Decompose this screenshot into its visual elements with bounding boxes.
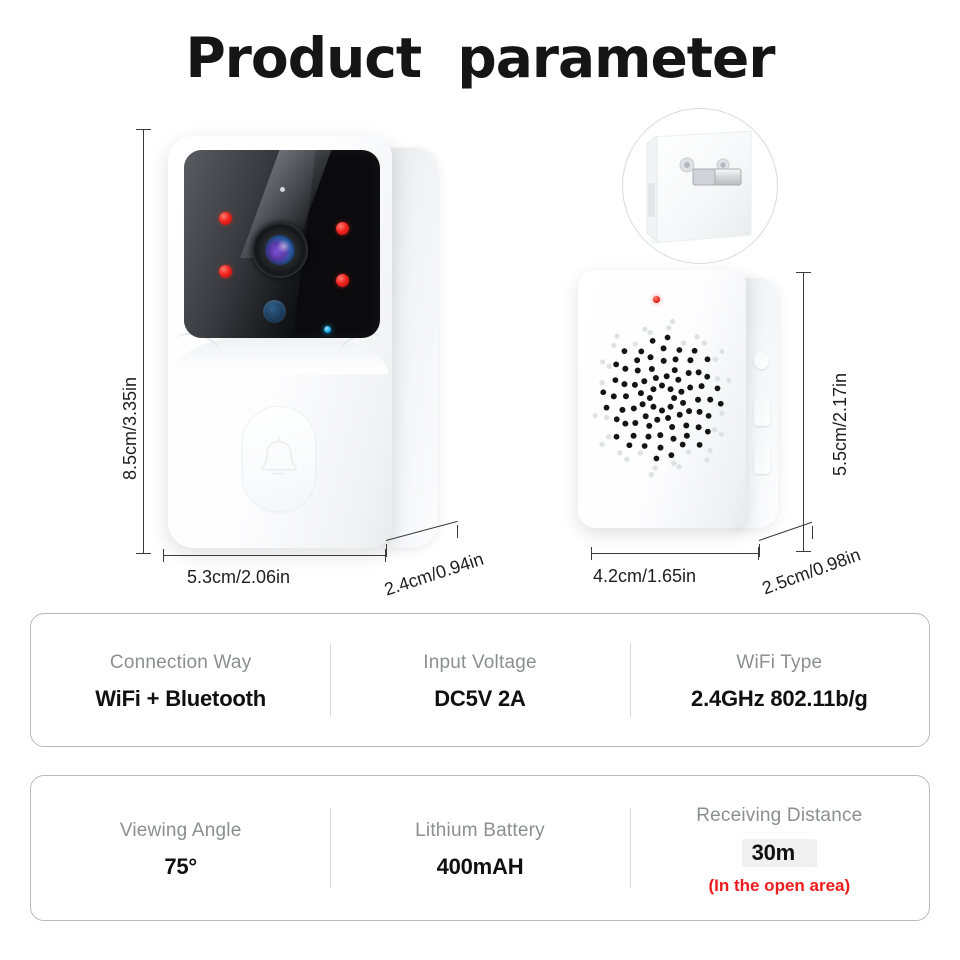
spec-label: Viewing Angle: [120, 820, 242, 842]
chime-status-led-icon: [653, 296, 660, 303]
ir-led-icon: [336, 274, 349, 287]
spec-table-row-2: Viewing Angle 75° Lithium Battery 400mAH…: [30, 775, 930, 921]
dim-cap: [796, 551, 811, 552]
spec-cell-connection-way: Connection Way WiFi + Bluetooth: [31, 614, 330, 746]
spec-table-row-1: Connection Way WiFi + Bluetooth Input Vo…: [30, 613, 930, 747]
doorbell-button[interactable]: [242, 406, 316, 512]
pir-sensor-icon: [263, 300, 286, 323]
wall-plug-icon: [623, 109, 778, 264]
spec-label: Lithium Battery: [415, 820, 545, 842]
status-led-icon: [324, 326, 331, 333]
doorbell-width-label: 5.3cm/2.06in: [187, 567, 290, 588]
product-illustration-area: 8.5cm/3.35in 5.3cm/2.06in 2.4cm/0.94in: [0, 100, 960, 600]
spec-label: Connection Way: [110, 652, 252, 674]
dim-cap: [457, 525, 458, 538]
spec-cell-viewing-angle: Viewing Angle 75°: [31, 776, 330, 920]
chime-power-button[interactable]: [754, 352, 769, 369]
spec-cell-lithium-battery: Lithium Battery 400mAH: [330, 776, 629, 920]
page-title: Product parameter: [0, 26, 960, 90]
chime-volume-button[interactable]: [754, 398, 770, 426]
doorbell-body: [168, 136, 392, 548]
doorbell-height-dim-line: [143, 129, 144, 554]
dim-cap: [759, 544, 760, 557]
chime-width-dim-line: [591, 553, 758, 554]
spec-value: DC5V 2A: [434, 686, 526, 712]
ir-led-icon: [336, 222, 349, 235]
spec-cell-wifi-type: WiFi Type 2.4GHz 802.11b/g: [630, 614, 929, 746]
bell-icon: [256, 435, 302, 483]
speaker-grille-icon: [592, 318, 732, 478]
doorbell-height-label: 8.5cm/3.35in: [120, 377, 141, 480]
doorbell-front-panel: [184, 150, 380, 338]
doorbell-width-dim-line: [163, 555, 385, 556]
dim-cap: [163, 549, 164, 562]
ir-led-icon: [219, 212, 232, 225]
chime-height-dim-line: [803, 272, 804, 552]
spec-note: (In the open area): [708, 876, 850, 896]
plug-detail-callout: [622, 108, 778, 264]
chime-depth-label: 2.5cm/0.98in: [759, 544, 863, 599]
spec-label: WiFi Type: [736, 652, 822, 674]
chime-body: [578, 270, 746, 528]
spec-value: 2.4GHz 802.11b/g: [691, 686, 868, 712]
doorbell-device: [168, 130, 436, 558]
product-parameter-page: Product parameter: [0, 0, 960, 960]
chime-width-label: 4.2cm/1.65in: [593, 566, 696, 587]
spec-value: 30m: [742, 839, 817, 867]
chime-device: [578, 270, 800, 542]
spec-value: WiFi + Bluetooth: [95, 686, 266, 712]
spec-label: Input Voltage: [423, 652, 537, 674]
dim-cap: [591, 547, 592, 560]
ir-led-icon: [219, 265, 232, 278]
spec-value: 75°: [164, 854, 197, 880]
dim-cap: [796, 272, 811, 273]
dim-cap: [812, 526, 813, 539]
dim-cap: [136, 129, 151, 130]
microphone-icon: [280, 187, 285, 192]
dim-cap: [136, 553, 151, 554]
spec-cell-receiving-distance: Receiving Distance 30m (In the open area…: [630, 776, 929, 920]
camera-lens-icon: [252, 222, 308, 278]
spec-cell-input-voltage: Input Voltage DC5V 2A: [330, 614, 629, 746]
doorbell-shoulder: [172, 332, 388, 374]
chime-height-label: 5.5cm/2.17in: [830, 373, 851, 476]
chime-melody-button[interactable]: [754, 446, 770, 474]
dim-cap: [386, 544, 387, 557]
spec-label: Receiving Distance: [696, 805, 862, 827]
spec-value: 400mAH: [437, 854, 524, 880]
